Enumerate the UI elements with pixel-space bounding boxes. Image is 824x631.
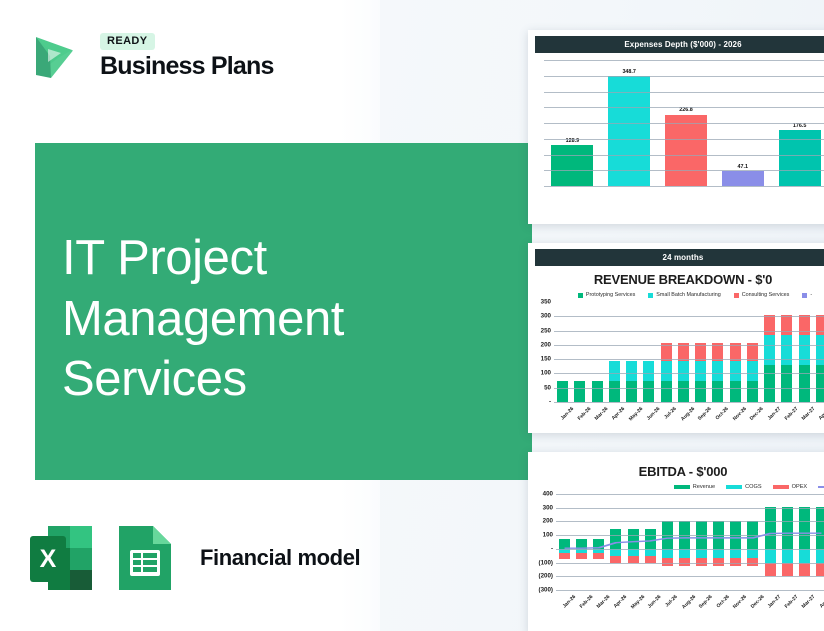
legend-item: 0 (818, 484, 824, 490)
slide-canvas: READY Business Plans IT Project Manageme… (0, 0, 824, 631)
bar-segment (764, 335, 775, 365)
bar-segment (695, 381, 706, 402)
bar-value-label: 348.7 (622, 69, 636, 75)
x-tick: Aug-26 (675, 404, 692, 430)
y-tick-label: 300 (543, 504, 556, 511)
y-tick-label: 150 (541, 356, 554, 363)
legend-item: Consulting Services (734, 292, 790, 298)
bar-segment-opex (576, 553, 587, 559)
expenses-chart-title: Expenses Depth ($'000) - 2026 (535, 36, 824, 53)
bar-segment-opex (765, 563, 776, 576)
bar-segment-opex (782, 563, 793, 576)
bar-segment (781, 335, 792, 365)
bar-segment (712, 343, 723, 360)
bar-segment (730, 361, 741, 381)
bar-segment-revenue (610, 529, 621, 549)
bar-segment-cogs (713, 549, 724, 559)
legend-item: Prototyping Services (578, 292, 635, 298)
bar-segment (695, 361, 706, 381)
gridline (556, 494, 824, 495)
bar-segment-revenue (593, 539, 604, 549)
bar-segment (730, 343, 741, 360)
bar-segment (678, 381, 689, 402)
y-tick-label: 400 (543, 491, 556, 498)
gridline (544, 107, 824, 108)
bar-segment (764, 315, 775, 336)
gridline (556, 590, 824, 591)
bar-segment (799, 335, 810, 365)
bar-segment-cogs (696, 549, 707, 559)
x-tick: Mar-27 (796, 404, 813, 430)
legend-swatch (578, 293, 583, 298)
page-title: IT Project Management Services (62, 228, 502, 410)
bar-segment-cogs (645, 549, 656, 557)
chart-card-revenue-breakdown[interactable]: 24 months REVENUE BREAKDOWN - $'0 Protot… (528, 243, 824, 433)
bar-segment (816, 365, 824, 402)
bar-segment-cogs (628, 549, 639, 557)
bar-segment-opex (593, 553, 604, 559)
bar-segment (799, 315, 810, 336)
bar-segment-cogs (679, 549, 690, 559)
y-tick-label: 100 (543, 532, 556, 539)
legend-swatch (734, 293, 739, 298)
y-tick-label: (100) (539, 559, 556, 566)
x-tick: Jul-26 (658, 404, 675, 430)
bar-segment (609, 361, 620, 381)
bar-segment-revenue (559, 539, 570, 549)
legend-swatch (802, 293, 807, 298)
bar-segment-opex (799, 563, 810, 576)
bar-segment-cogs (765, 549, 776, 563)
legend-swatch (773, 485, 789, 489)
financial-model-row: X Financial model (28, 522, 360, 594)
y-tick-label: - (549, 399, 554, 406)
bar-segment-cogs (782, 549, 793, 563)
bar-segment (747, 361, 758, 381)
legend-line-swatch (818, 486, 824, 488)
gridline (554, 359, 824, 360)
gridline (554, 388, 824, 389)
gridline (544, 155, 824, 156)
y-tick-label: 50 (544, 384, 554, 391)
ebitda-plot-area: 400300200100-(100)(200)(300) (556, 494, 824, 590)
bar-segment-opex (559, 553, 570, 559)
svg-text:X: X (40, 545, 57, 573)
x-tick: Jan-27 (761, 404, 778, 430)
bar-segment-cogs (730, 549, 741, 559)
gridline (544, 60, 824, 61)
bar-segment-cogs (610, 549, 621, 557)
y-tick-label: 250 (541, 327, 554, 334)
bar-segment (609, 381, 620, 402)
revenue-x-axis: Jan-26Feb-26Mar-26Apr-26May-26Jun-26Jul-… (554, 404, 824, 430)
expenses-plot-area: 128.9348.7226.847.1176.5 (544, 60, 824, 186)
bar-segment (661, 343, 672, 360)
gridline (544, 170, 824, 171)
legend-item: COGS (726, 484, 761, 490)
bar-segment (661, 381, 672, 402)
gridline (544, 139, 824, 140)
y-tick-label: 300 (541, 313, 554, 320)
x-tick: Feb-27 (779, 592, 796, 618)
legend-item: Revenue (674, 484, 715, 490)
bar-segment (678, 343, 689, 360)
legend-label: - (810, 292, 812, 298)
bar-segment (626, 361, 637, 381)
bar-segment (643, 381, 654, 402)
bar-segment (643, 361, 654, 381)
gridline (556, 549, 824, 550)
microsoft-excel-icon: X (28, 522, 94, 594)
legend-label: Prototyping Services (586, 292, 635, 298)
gridline (556, 563, 824, 564)
financial-model-label: Financial model (200, 545, 360, 571)
google-sheets-icon (113, 522, 177, 594)
y-tick-label: 200 (541, 341, 554, 348)
y-tick-label: (200) (539, 573, 556, 580)
legend-item: Small Batch Manufacturing (648, 292, 720, 298)
bar-value-label: 47.1 (738, 164, 749, 170)
x-tick: Jul-26 (659, 592, 676, 618)
chart-card-ebitda[interactable]: EBITDA - $'000 RevenueCOGSOPEX0 40030020… (528, 452, 824, 631)
legend-swatch (674, 485, 690, 489)
x-tick-label: Apr-27 (818, 594, 824, 609)
legend-label: COGS (745, 484, 761, 490)
bar-segment-cogs (662, 549, 673, 559)
gridline (554, 373, 824, 374)
legend-label: Small Batch Manufacturing (656, 292, 720, 298)
bar-segment (799, 365, 810, 402)
bar-segment (712, 361, 723, 381)
bar-segment (695, 343, 706, 360)
bar-segment (592, 381, 603, 402)
bar-segment (781, 365, 792, 402)
x-tick-label: Apr-27 (818, 406, 824, 421)
revenue-plot-area: 35030025020015010050- (554, 302, 824, 402)
bar-segment (747, 343, 758, 360)
gridline (554, 331, 824, 332)
bar-segment-revenue (816, 507, 824, 549)
legend-item: - (802, 292, 812, 298)
ebitda-chart-title: EBITDA - $'000 (528, 464, 824, 479)
legend-item: OPEX (773, 484, 808, 490)
x-tick: Jan-26 (554, 404, 571, 430)
bar-segment (557, 381, 568, 402)
x-tick: Oct-26 (709, 404, 726, 430)
bar-segment (747, 381, 758, 402)
y-tick-label: (300) (539, 587, 556, 594)
gridline (544, 76, 824, 77)
bar-segment-cogs (747, 549, 758, 559)
brand-name: Business Plans (100, 54, 274, 79)
gridline (544, 92, 824, 93)
x-tick: Jan-26 (556, 592, 573, 618)
y-tick-label: 350 (541, 299, 554, 306)
bar-segment (730, 381, 741, 402)
gridline (554, 345, 824, 346)
gridline (554, 402, 824, 403)
revenue-chart-title: REVENUE BREAKDOWN - $'0 (528, 272, 824, 287)
ebitda-x-axis: Jan-26Feb-26Mar-26Apr-26May-26Jun-26Jul-… (556, 592, 824, 618)
brand-lockup: READY Business Plans (28, 27, 274, 85)
bar-segment-revenue (576, 539, 587, 549)
legend-swatch (648, 293, 653, 298)
bar-segment (626, 381, 637, 402)
bar-segment (574, 381, 585, 402)
gridline (556, 508, 824, 509)
bar-segment (816, 315, 824, 336)
bar-segment-opex (816, 563, 824, 576)
gridline (556, 535, 824, 536)
x-tick: Aug-26 (676, 592, 693, 618)
gridline (544, 123, 824, 124)
y-tick-label: 100 (541, 370, 554, 377)
legend-swatch (726, 485, 742, 489)
bar-segment-cogs (816, 549, 824, 563)
x-tick: Apr-26 (606, 404, 623, 430)
y-tick-label: - (551, 545, 556, 552)
revenue-banner: 24 months (535, 249, 824, 266)
bar-segment (816, 335, 824, 365)
bar-segment-revenue (799, 507, 810, 549)
x-tick: Nov-26 (727, 404, 744, 430)
gridline (556, 576, 824, 577)
revenue-legend: Prototyping ServicesSmall Batch Manufact… (528, 292, 824, 298)
bar-segment (661, 361, 672, 381)
x-tick: May-26 (625, 592, 642, 618)
bar-segment (712, 381, 723, 402)
gridline (556, 521, 824, 522)
x-tick: May-26 (623, 404, 640, 430)
bar-segment-cogs (799, 549, 810, 563)
legend-label: Revenue (693, 484, 715, 490)
bar-segment-revenue (782, 507, 793, 549)
legend-label: OPEX (792, 484, 808, 490)
bar-segment-revenue (628, 529, 639, 549)
play-triangle-icon (28, 27, 86, 85)
bar (665, 115, 707, 186)
legend-label: Consulting Services (742, 292, 790, 298)
bar (722, 171, 764, 186)
bar-segment (781, 315, 792, 336)
bar-segment-revenue (765, 507, 776, 549)
chart-card-expenses[interactable]: Expenses Depth ($'000) - 2026 128.9348.7… (528, 30, 824, 224)
x-tick: Mar-26 (589, 404, 606, 430)
gridline (554, 316, 824, 317)
x-tick: Mar-27 (796, 592, 813, 618)
bar-segment-revenue (645, 529, 656, 549)
ebitda-legend: RevenueCOGSOPEX0 (528, 484, 824, 490)
y-tick-label: 200 (543, 518, 556, 525)
ready-badge: READY (100, 33, 155, 50)
gridline (544, 186, 824, 187)
x-tick: Oct-26 (710, 592, 727, 618)
bar-segment (764, 365, 775, 402)
bar-segment (678, 361, 689, 381)
bar (551, 145, 593, 186)
